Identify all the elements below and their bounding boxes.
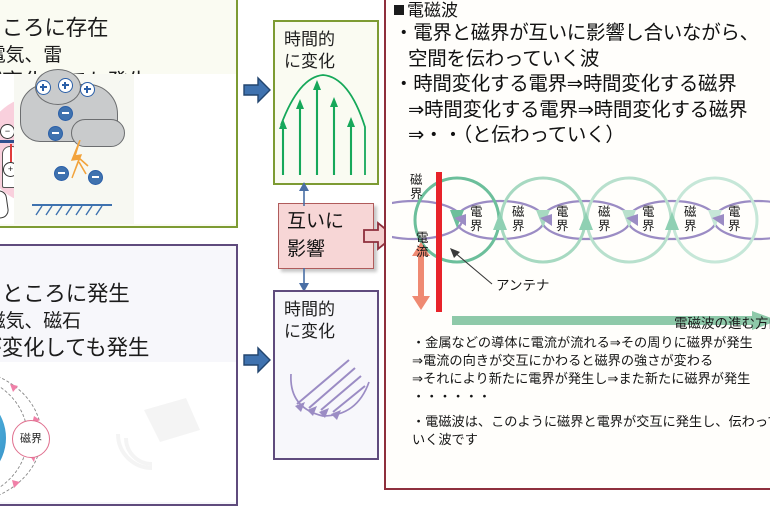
magnetic-field-callout-label: 磁界 bbox=[12, 420, 50, 458]
em-note-1: ⇒電流の向きが交互にかわると磁界の強さが変わる bbox=[412, 352, 770, 370]
charge-plus-icon bbox=[36, 80, 51, 95]
em-note-5: いく波です bbox=[412, 431, 770, 449]
electric-field-arrows-graphic bbox=[275, 71, 377, 179]
svg-text:電: 電 bbox=[470, 205, 483, 219]
purple-box-label: 時間的 に変化 bbox=[284, 299, 335, 343]
thundercloud-illustration bbox=[14, 74, 134, 224]
panel-electromagnetic-wave: 電磁波 ・電界と磁界が互いに影響し合いながら、 空間を伝わっていく波 ・時間変化… bbox=[384, 0, 770, 490]
label-current: 電 bbox=[416, 231, 429, 245]
svg-text:界: 界 bbox=[556, 219, 569, 233]
magnetic-field-arrows-graphic bbox=[275, 346, 377, 454]
charge-plus-icon bbox=[80, 82, 95, 97]
charge-minus-icon bbox=[48, 126, 63, 141]
svg-text:磁: 磁 bbox=[684, 204, 697, 219]
svg-text:磁: 磁 bbox=[598, 204, 611, 219]
ef-line-0: 電界 bbox=[0, 0, 230, 15]
arrow-right-icon-top bbox=[243, 75, 271, 105]
em-notes-block: ・金属などの導体に電流が流れる⇒その周りに磁界が発生 ⇒電流の向きが交互にかわる… bbox=[412, 334, 770, 449]
bullet-square-icon bbox=[394, 5, 404, 15]
antenna-line bbox=[436, 172, 442, 312]
em-line-1: 空間を伝わっていく波 bbox=[394, 47, 770, 73]
em-line-2: ・時間変化する電界⇒時間変化する磁界 bbox=[394, 72, 770, 98]
box-time-varying-electric: 時間的 に変化 bbox=[273, 20, 379, 185]
em-note-3: ・・・・・・ bbox=[412, 388, 770, 406]
geomagnetism-illustration: 北極 南極 磁界 N S bbox=[0, 362, 236, 502]
svg-text:電: 電 bbox=[556, 205, 569, 219]
propagation-direction-label: 電磁波の進む方向 bbox=[674, 312, 770, 332]
svg-text:界: 界 bbox=[684, 219, 697, 233]
ef-line-1: 電圧のあるところに存在 bbox=[0, 15, 230, 42]
em-title: 電磁波 bbox=[394, 0, 770, 21]
svg-text:界: 界 bbox=[642, 219, 655, 233]
attraction-line bbox=[10, 144, 12, 162]
svg-text:界: 界 bbox=[728, 219, 741, 233]
charge-minus-icon bbox=[58, 106, 73, 121]
box-time-varying-magnetic: 時間的 に変化 bbox=[273, 290, 379, 460]
ef-line-2: 身近な例：静電気、雷 bbox=[0, 42, 230, 69]
em-line-0: ・電界と磁界が互いに影響し合いながら、 bbox=[394, 21, 770, 47]
mf-line-0: 磁界 bbox=[0, 254, 230, 281]
charge-plus-icon bbox=[58, 78, 73, 93]
green-box-label-line1: 時間的 bbox=[284, 29, 335, 51]
mutual-label-line2: 影響 bbox=[287, 236, 344, 264]
em-note-0: ・金属などの導体に電流が流れる⇒その周りに磁界が発生 bbox=[412, 334, 770, 352]
box-mutual-influence: 互いに 影響 bbox=[278, 203, 374, 269]
charge-minus-icon bbox=[54, 166, 69, 181]
em-note-4: ・電磁波は、このように磁界と電界が交互に発生し、伝わって bbox=[412, 413, 770, 431]
svg-text:界: 界 bbox=[512, 219, 525, 233]
panel-electric-field: 電界 電圧のあるところに存在 身近な例：静電気、雷 電界の強さが変化しても発生 … bbox=[0, 0, 238, 228]
svg-text:界: 界 bbox=[410, 187, 423, 201]
svg-text:電: 電 bbox=[728, 205, 741, 219]
svg-text:磁: 磁 bbox=[512, 204, 525, 219]
em-header-block: 電磁波 ・電界と磁界が互いに影響し合いながら、 空間を伝わっていく波 ・時間変化… bbox=[394, 0, 770, 149]
svg-text:電: 電 bbox=[642, 205, 655, 219]
mf-line-2: 身近な例：地磁気、磁石 bbox=[0, 308, 230, 335]
svg-text:流: 流 bbox=[416, 245, 429, 259]
svg-text:界: 界 bbox=[598, 219, 611, 233]
green-box-label-line2: に変化 bbox=[284, 51, 335, 73]
mutual-label-line1: 互いに bbox=[287, 208, 344, 236]
mf-line-3: 磁界の強さが変化しても発生 bbox=[0, 335, 230, 362]
charge-minus: − bbox=[0, 124, 15, 139]
em-note-2: ⇒それにより新たに電界が発生し⇒また新たに磁界が発生 bbox=[412, 370, 770, 388]
svg-text:界: 界 bbox=[470, 219, 483, 233]
static-electricity-illustration: 電界 下敷き 髪の毛 − + − bbox=[0, 74, 236, 224]
green-box-label: 時間的 に変化 bbox=[284, 29, 335, 73]
arrow-down-icon-connector bbox=[296, 268, 312, 292]
em-line-3: ⇒時間変化する電界⇒時間変化する磁界 bbox=[394, 98, 770, 124]
ground-hatching bbox=[32, 206, 112, 216]
label-magnetic-top: 磁 bbox=[410, 172, 423, 187]
mf-line-1: 電流が流れるところに発生 bbox=[0, 281, 230, 308]
purple-box-label-line2: に変化 bbox=[284, 321, 335, 343]
em-wave-diagram: 磁界 電流 アンテナ 電界 磁界 電界 磁界 電界 磁界 電界 磁界 bbox=[392, 172, 770, 332]
slide-root: 電界 電圧のあるところに存在 身近な例：静電気、雷 電界の強さが変化しても発生 … bbox=[0, 0, 770, 482]
magnet-watermark-icon bbox=[114, 390, 234, 490]
em-line-4: ⇒・・（と伝わっていく） bbox=[394, 123, 770, 149]
panel-magnetic-field: 磁界 電流が流れるところに発生 身近な例：地磁気、磁石 磁界の強さが変化しても発… bbox=[0, 244, 238, 506]
em-title-text: 電磁波 bbox=[407, 1, 458, 20]
arrow-right-icon-bottom bbox=[243, 345, 271, 375]
label-antenna: アンテナ bbox=[496, 278, 549, 293]
mutual-label: 互いに 影響 bbox=[287, 208, 344, 264]
earth-figure: 北極 南極 磁界 N S bbox=[0, 362, 99, 502]
magnetic-field-text-block: 磁界 電流が流れるところに発生 身近な例：地磁気、磁石 磁界の強さが変化しても発… bbox=[0, 254, 230, 362]
charge-minus-icon bbox=[88, 170, 103, 185]
arrow-up-icon-connector bbox=[296, 182, 312, 206]
purple-box-label-line1: 時間的 bbox=[284, 299, 335, 321]
